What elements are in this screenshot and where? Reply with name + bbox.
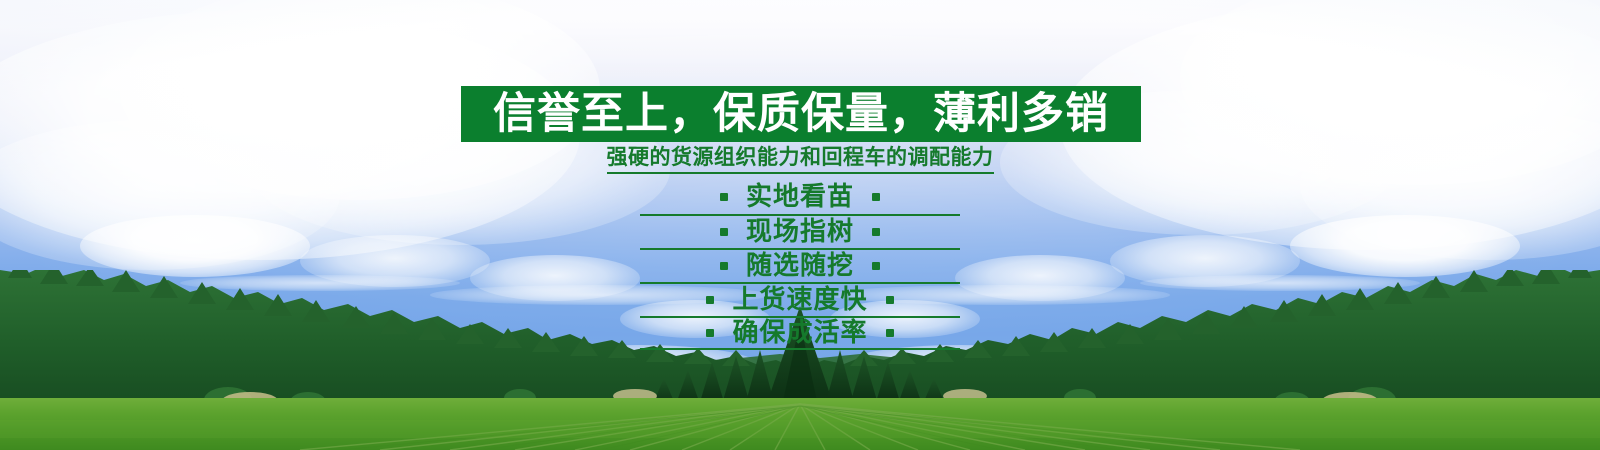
banner-content: 信誉至上，保质保量，薄利多销 强硬的货源组织能力和回程车的调配能力 实地看苗 现… [0, 0, 1600, 450]
feature-item: 随选随挖 [640, 248, 960, 282]
bullet-dot-icon [720, 262, 728, 270]
bullet-dot-icon [706, 329, 714, 337]
subtitle-text: 强硬的货源组织能力和回程车的调配能力 [607, 146, 994, 174]
bullet-dot-icon [720, 228, 728, 236]
bullet-dot-icon [872, 193, 880, 201]
bullet-dot-icon [706, 296, 714, 304]
feature-label: 确保成活率 [732, 320, 867, 346]
feature-item: 上货速度快 [640, 282, 960, 316]
feature-label: 上货速度快 [732, 287, 867, 313]
feature-label: 随选随挖 [746, 253, 854, 279]
promo-banner: 信誉至上，保质保量，薄利多销 强硬的货源组织能力和回程车的调配能力 实地看苗 现… [0, 0, 1600, 450]
feature-label: 实地看苗 [746, 184, 854, 210]
feature-item: 现场指树 [640, 214, 960, 248]
bullet-dot-icon [872, 228, 880, 236]
feature-list: 实地看苗 现场指树 随选随挖 上货速度快 确保成活率 [640, 180, 960, 350]
feature-item: 实地看苗 [640, 180, 960, 214]
headline-bar: 信誉至上，保质保量，薄利多销 [461, 86, 1141, 142]
feature-item: 确保成活率 [640, 316, 960, 350]
headline-text: 信誉至上，保质保量，薄利多销 [493, 93, 1109, 136]
bullet-dot-icon [872, 262, 880, 270]
bullet-dot-icon [886, 329, 894, 337]
feature-label: 现场指树 [746, 219, 854, 245]
bullet-dot-icon [720, 193, 728, 201]
bullet-dot-icon [886, 296, 894, 304]
subtitle-row: 强硬的货源组织能力和回程车的调配能力 [0, 146, 1600, 174]
